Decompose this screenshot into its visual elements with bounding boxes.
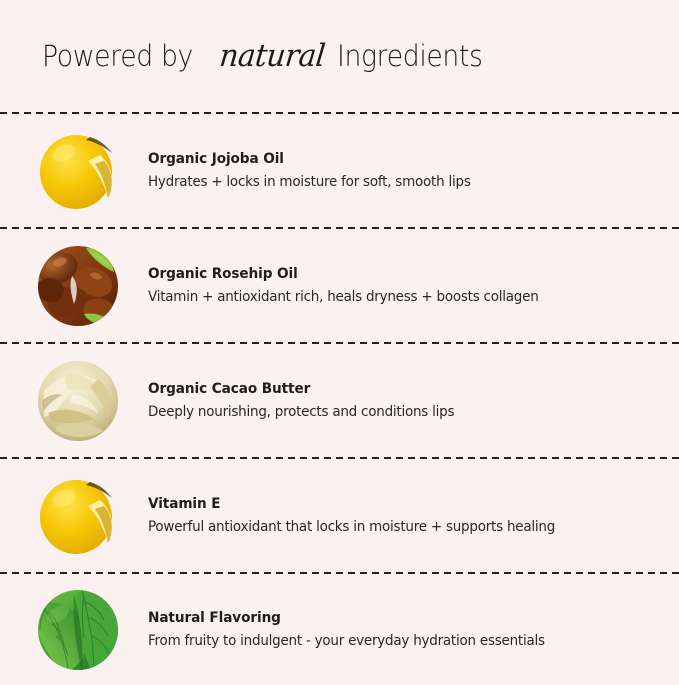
header: Powered by natural Ingredients xyxy=(0,0,679,112)
list-item-text: Organic Cacao Butter Deeply nourishing, … xyxy=(148,380,477,422)
ingredients-infographic: Powered by natural Ingredients xyxy=(0,0,679,679)
list-item-text: Natural Flavoring From fruity to indulge… xyxy=(148,609,575,651)
ingredient-description: Hydrates + locks in moisture for soft, s… xyxy=(148,173,471,192)
list-item: Organic Jojoba Oil Hydrates + locks in m… xyxy=(0,114,679,227)
ingredient-description: Powerful antioxidant that locks in moist… xyxy=(148,518,555,537)
ingredient-name: Organic Cacao Butter xyxy=(148,380,458,398)
rosehip-seeds-icon xyxy=(38,246,118,326)
ingredient-name: Organic Rosehip Oil xyxy=(148,265,543,283)
list-item: Organic Rosehip Oil Vitamin + antioxidan… xyxy=(0,229,679,342)
mint-leaves-icon xyxy=(38,590,118,670)
list-item-text: Organic Jojoba Oil Hydrates + locks in m… xyxy=(148,150,495,192)
ingredient-description: Vitamin + antioxidant rich, heals drynes… xyxy=(148,288,539,307)
ingredients-list: Organic Jojoba Oil Hydrates + locks in m… xyxy=(0,114,679,685)
jojoba-oil-drop-icon xyxy=(38,131,118,211)
ingredient-description: Deeply nourishing, protects and conditio… xyxy=(148,403,454,422)
list-item-text: Organic Rosehip Oil Vitamin + antioxidan… xyxy=(148,265,568,307)
title-part-two: Ingredients xyxy=(337,39,483,73)
title-part-one: Powered by xyxy=(42,39,193,73)
page-title: Powered by natural Ingredients xyxy=(42,38,495,74)
ingredient-name: Vitamin E xyxy=(148,495,559,513)
list-item: Vitamin E Powerful antioxidant that lock… xyxy=(0,459,679,572)
vitamin-e-drop-icon xyxy=(38,476,118,556)
list-item-text: Vitamin E Powerful antioxidant that lock… xyxy=(148,495,586,537)
list-item: Natural Flavoring From fruity to indulge… xyxy=(0,574,679,685)
list-item: Organic Cacao Butter Deeply nourishing, … xyxy=(0,344,679,457)
title-script-word: natural xyxy=(207,38,335,74)
ingredient-name: Organic Jojoba Oil xyxy=(148,150,474,168)
ingredient-name: Natural Flavoring xyxy=(148,609,549,627)
cacao-butter-icon xyxy=(38,361,118,441)
ingredient-description: From fruity to indulgent - your everyday… xyxy=(148,632,545,651)
